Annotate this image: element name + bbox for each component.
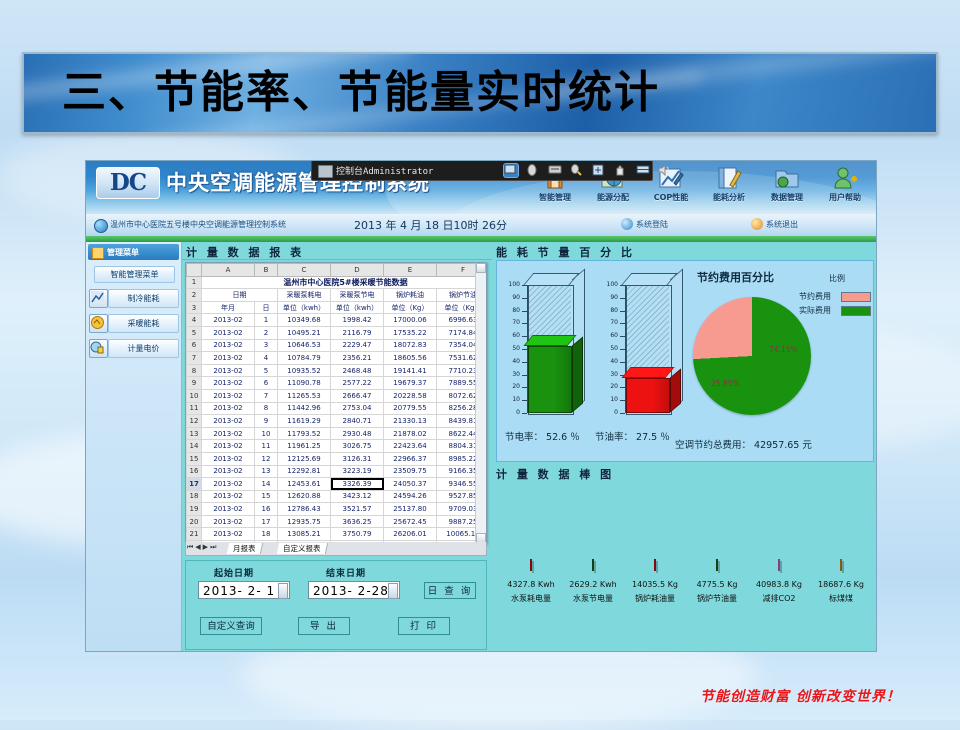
cell-pump-power[interactable]: 12292.81 [278,465,331,478]
cell-boiler-oil[interactable]: 22966.37 [384,452,437,465]
footer-slogan: 节能创造财富 创新改变世界！ [700,686,901,706]
legend-swatch [841,306,871,316]
header-cell[interactable]: 锅炉耗油 [384,289,437,302]
toolbar-label: 能耗分析 [700,192,758,203]
cell-pump-saved[interactable]: 2930.48 [331,427,384,440]
header-cell[interactable]: 日期 [202,289,278,302]
sidebar-header: 管理菜单 [88,244,179,260]
gauge-tick [522,400,527,401]
cell-boiler-oil[interactable]: 25137.80 [384,503,437,516]
cell-pump-power[interactable]: 10495.21 [278,326,331,339]
cell-day[interactable]: 2 [255,326,278,339]
stretch-icon[interactable] [636,164,650,177]
row-number[interactable]: 17 [187,478,202,491]
cell-pump-saved[interactable]: 2666.47 [331,389,384,402]
screen-icon[interactable] [504,164,518,177]
legend-label: 节约费用 [799,292,831,301]
start-date-value: 2013- 2- 1 [203,584,275,598]
cell-boiler-oil[interactable]: 17000.06 [384,314,437,327]
cell-pump-power[interactable]: 12935.75 [278,515,331,528]
cell-pump-saved[interactable]: 3521.57 [331,503,384,516]
cell-boiler-oil[interactable]: 17535.22 [384,326,437,339]
cell-pump-power[interactable]: 12786.43 [278,503,331,516]
cell-pump-saved[interactable]: 3636.25 [331,515,384,528]
row-number[interactable]: 15 [187,452,202,465]
gauge-tick-label: 0 [504,410,520,416]
app-brand-bar: DC 中央空调能源管理控制系统 智能管理 能源分配 COP性能 [86,161,876,214]
cell-year-month[interactable]: 2013-02 [202,503,255,516]
sheet-tab-custom[interactable]: 自定义报表 [277,543,328,554]
header-cell[interactable]: 采暖泵耗电 [278,289,331,302]
cell-year-month[interactable]: 2013-02 [202,528,255,541]
cell-boiler-oil[interactable]: 20779.55 [384,402,437,415]
cell-boiler-oil[interactable]: 23509.75 [384,465,437,478]
cell-pump-power[interactable]: 11961.25 [278,440,331,453]
cell-boiler-oil[interactable]: 20228.58 [384,389,437,402]
scroll-up-icon[interactable] [476,263,486,273]
cell-day[interactable]: 5 [255,364,278,377]
console-screen-icon [318,165,333,178]
column-letter[interactable]: D [331,264,384,277]
gauge-tick [522,349,527,350]
table-row: 42013-02110349.681998.4217000.066996.63 [187,314,488,327]
cell-pump-power[interactable]: 11090.78 [278,377,331,390]
cell-year-month[interactable]: 2013-02 [202,339,255,352]
cell-year-month[interactable]: 2013-02 [202,364,255,377]
metric-name: 水泵耗电量 [500,593,562,604]
legend-swatch [841,292,871,302]
gauge-tick-label: 100 [602,282,618,288]
metric-value: 4327.8 Kwh [500,580,562,589]
cell-pump-power[interactable]: 12453.61 [278,478,331,491]
console-title: 控制台Administrator [336,164,433,177]
cell-pump-power[interactable]: 11265.53 [278,389,331,402]
row-number[interactable]: 16 [187,465,202,478]
energy-section-title: 能 耗 节 量 百 分 比 [496,244,635,260]
cell-year-month[interactable]: 2013-02 [202,415,255,428]
cell-day[interactable]: 6 [255,377,278,390]
cell-pump-saved[interactable]: 2577.22 [331,377,384,390]
cell-pump-power[interactable]: 11793.52 [278,427,331,440]
header-cell[interactable]: 单位（kwh） [278,301,331,314]
cell-day[interactable]: 12 [255,452,278,465]
header-cell[interactable]: 采暖泵节电 [331,289,384,302]
gauge-tick [620,336,625,337]
table-row: 132013-021011793.522930.4821878.028622.4… [187,427,488,440]
cell-boiler-oil[interactable]: 21330.13 [384,415,437,428]
gauge-tick [620,362,625,363]
end-date-label: 结束日期 [326,566,366,579]
sidebar-item-smart-menu[interactable]: 智能管理菜单 [94,266,175,283]
table-row: 2日期采暖泵耗电采暖泵节电锅炉耗油锅炉节油 [187,289,488,302]
legend-item-actual-cost: 实际费用 [799,305,831,316]
slide-title-banner: 三、节能率、节能量实时统计 [22,52,938,134]
bar-top-face [621,367,674,378]
table-row: 152013-021212125.693126.3122966.378985.2… [187,452,488,465]
oil-saving-rate-stat: 节油率： 27.5 ％ [595,429,670,443]
cell-day[interactable]: 14 [255,478,278,491]
row-number[interactable]: 3 [187,301,202,314]
legend-label: 实际费用 [799,306,831,315]
gauge-tick-label: 20 [504,384,520,390]
day-query-button[interactable]: 日 查 询 [424,582,476,599]
header-cell[interactable]: 日 [255,301,278,314]
cell-day[interactable]: 8 [255,402,278,415]
row-number[interactable]: 12 [187,415,202,428]
row-number[interactable]: 8 [187,364,202,377]
cell-boiler-oil[interactable]: 21878.02 [384,427,437,440]
metric-pump-power-saved: 2629.2 Kwh 水泵节电量 [562,560,624,604]
cell-boiler-oil[interactable]: 25672.45 [384,515,437,528]
bar-side-face [572,336,583,412]
row-number[interactable]: 14 [187,440,202,453]
folder-globe-icon [774,165,800,191]
cell-day[interactable]: 16 [255,503,278,516]
toolbar-label: 数据管理 [758,192,816,203]
toolbar-item-user-help[interactable]: 用户帮助 [816,165,874,203]
gauge-tick-label: 30 [504,372,520,378]
system-exit-label: 系统退出 [766,220,798,229]
gauge-power-saving-rate: 0102030405060708090100 [509,283,595,423]
metric-chip [530,559,532,571]
sheet-tab-label: 自定义报表 [283,543,321,554]
sheet-title-cell[interactable]: 温州市中心医院5#楼采暖节能数据 [202,276,488,289]
notebook-pen-icon [716,165,742,191]
end-date-input[interactable]: 2013- 2-28 [308,581,400,599]
row-number[interactable]: 5 [187,326,202,339]
cell-pump-saved[interactable]: 2468.48 [331,364,384,377]
cell-pump-saved[interactable]: 3423.12 [331,490,384,503]
bar-front-face [528,346,572,413]
header-cell[interactable]: 年月 [202,301,255,314]
sidebar-item-label: 制冷能耗 [108,289,179,308]
gauge-tick-label: 50 [504,346,520,352]
cell-pump-saved[interactable]: 3326.39 [331,478,384,491]
metric-chip [778,559,780,571]
cell-pump-saved[interactable]: 2356.21 [331,352,384,365]
export-button[interactable]: 导 出 [298,617,350,635]
gauge-tick [522,311,527,312]
sidebar-item-price[interactable]: 计量电价 [89,337,178,359]
gauge-tick-label: 30 [602,372,618,378]
cooling-icon [89,289,108,308]
metric-co2-reduction: 40983.8 Kg 减排CO2 [748,560,810,604]
table-row: 1温州市中心医院5#楼采暖节能数据 [187,276,488,289]
user-add-icon [832,165,858,191]
start-date-input[interactable]: 2013- 2- 1 [198,581,290,599]
cell-pump-power[interactable]: 13085.21 [278,528,331,541]
gauge-tick [522,285,527,286]
report-panel: 计 量 数 据 报 表 A B C D E F 1温州市中心医院5#楼采暖节能数… [182,242,492,651]
gauge-tick-label: 70 [602,320,618,326]
sheet-corner[interactable] [187,264,202,277]
pie-slice-label-actual: 74.15% [769,345,798,354]
system-login-link[interactable]: 系统登陆 [636,219,668,230]
cell-pump-power[interactable]: 12125.69 [278,452,331,465]
row-number[interactable]: 20 [187,515,202,528]
header-cell[interactable]: 单位（Kg） [384,301,437,314]
mouse-icon[interactable] [526,164,540,177]
table-row: 112013-02811442.962753.0420779.558256.28 [187,402,488,415]
sheet-nav-arrows[interactable]: ⏮◀▶⏭ [187,543,218,552]
cell-year-month[interactable]: 2013-02 [202,490,255,503]
logout-icon [751,218,763,230]
gauge-tick [522,387,527,388]
cell-day[interactable]: 1 [255,314,278,327]
right-panel: 能 耗 节 量 百 分 比 0102030405060708090100 [492,242,876,651]
sheet-tab-bar[interactable]: ⏮◀▶⏭ 月报表 自定义报表 [185,542,487,556]
cell-day[interactable]: 3 [255,339,278,352]
metric-name: 标煤煤 [810,593,872,604]
heating-icon [89,314,108,333]
cell-day[interactable]: 9 [255,415,278,428]
cell-pump-power[interactable]: 10646.53 [278,339,331,352]
cell-pump-saved[interactable]: 2840.71 [331,415,384,428]
column-letter[interactable]: E [384,264,437,277]
row-number[interactable]: 21 [187,528,202,541]
metric-value: 14035.5 Kg [624,580,686,589]
column-letter[interactable]: A [202,264,255,277]
cell-pump-saved[interactable]: 2229.47 [331,339,384,352]
cell-boiler-oil[interactable]: 22423.64 [384,440,437,453]
row-number[interactable]: 10 [187,389,202,402]
row-number[interactable]: 11 [187,402,202,415]
cell-pump-saved[interactable]: 2753.04 [331,402,384,415]
cell-year-month[interactable]: 2013-02 [202,377,255,390]
toolbar-label: 用户帮助 [816,192,874,203]
row-number[interactable]: 7 [187,352,202,365]
cell-year-month[interactable]: 2013-02 [202,402,255,415]
pie-slice-label-saved: 25.85% [711,379,740,388]
gauge-tick-label: 90 [504,295,520,301]
gauge-tick [522,362,527,363]
cell-year-month[interactable]: 2013-02 [202,452,255,465]
energy-percentage-chart-area: 0102030405060708090100 01020304050607080… [496,260,874,462]
cell-year-month[interactable]: 2013-02 [202,478,255,491]
metric-pump-power-consumption: 4327.8 Kwh 水泵耗电量 [500,560,562,604]
cell-day[interactable]: 11 [255,440,278,453]
toolbar-label: COP性能 [642,192,700,203]
price-icon [89,339,108,358]
cell-pump-saved[interactable]: 3223.19 [331,465,384,478]
spreadsheet[interactable]: A B C D E F 1温州市中心医院5#楼采暖节能数据2日期采暖泵耗电采暖泵… [185,262,487,544]
gauge-hatch [627,286,669,377]
gauge-tick-label: 90 [602,295,618,301]
cell-year-month[interactable]: 2013-02 [202,427,255,440]
row-number[interactable]: 4 [187,314,202,327]
toolbar-item-data-management[interactable]: 数据管理 [758,165,816,203]
gauge-tick-label: 70 [504,320,520,326]
column-letter[interactable]: C [278,264,331,277]
cell-day[interactable]: 7 [255,389,278,402]
table-row: 72013-02410784.792356.2118605.567531.62 [187,352,488,365]
cell-day[interactable]: 4 [255,352,278,365]
cell-day[interactable]: 18 [255,528,278,541]
start-date-label: 起始日期 [214,566,254,579]
vm-console-toolbar[interactable]: 控制台Administrator [311,161,653,181]
table-row: 82013-02510935.522468.4819141.417710.23 [187,364,488,377]
gauge-tick [620,323,625,324]
cell-year-month[interactable]: 2013-02 [202,352,255,365]
cell-boiler-oil[interactable]: 24594.26 [384,490,437,503]
cell-pump-saved[interactable]: 2116.79 [331,326,384,339]
gauge-tick [522,375,527,376]
metric-chip [654,559,656,571]
gauge-tick-label: 60 [602,333,618,339]
sheet-tab-monthly[interactable]: 月报表 [227,543,263,554]
cell-boiler-oil[interactable]: 19679.37 [384,377,437,390]
cell-year-month[interactable]: 2013-02 [202,314,255,327]
gauge-tick [522,298,527,299]
app-sub-header: 温州市中心医院五号楼中央空调能源管理控制系统 2013 年 4 月 18 日10… [86,214,876,237]
chevron-down-icon[interactable] [388,583,398,599]
cell-day[interactable]: 17 [255,515,278,528]
gauge-tick [522,413,527,414]
gauge-tick-label: 80 [504,308,520,314]
pie-total-label: 空调节约总费用： 42957.65 元 [675,437,812,451]
cell-pump-power[interactable]: 10935.52 [278,364,331,377]
disc-icon[interactable] [548,164,562,177]
metric-value: 2629.2 Kwh [562,580,624,589]
pie-chart [693,297,811,415]
row-number[interactable]: 6 [187,339,202,352]
row-number[interactable]: 18 [187,490,202,503]
gauge-tick-label: 40 [602,359,618,365]
metric-value: 40983.8 Kg [748,580,810,589]
sheet-tab-label: 月报表 [233,543,256,554]
cell-pump-power[interactable]: 11442.96 [278,402,331,415]
cell-pump-power[interactable]: 11619.29 [278,415,331,428]
gauge-tick [620,349,625,350]
speaker-icon[interactable] [658,164,674,177]
toolbar-item-consumption-analysis[interactable]: 能耗分析 [700,165,758,203]
table-row: 202013-021712935.753636.2525672.459887.2… [187,515,488,528]
table-row: 192013-021612786.433521.5725137.809709.0… [187,503,488,516]
table-row: 182013-021512620.883423.1224594.269527.8… [187,490,488,503]
bar-front-face [626,378,670,413]
metric-name: 锅炉耗油量 [624,593,686,604]
legend-item-saved-cost: 节约费用 [799,291,831,302]
cell-day[interactable]: 13 [255,465,278,478]
login-icon [621,218,633,230]
print-button[interactable]: 打 印 [398,617,450,635]
gauge-tick [620,400,625,401]
toolbar-label: 智能管理 [526,192,584,203]
gauge-oil-saving-rate: 0102030405060708090100 [607,283,693,423]
column-letter[interactable]: B [255,264,278,277]
row-number[interactable]: 1 [187,276,202,289]
system-globe-icon [94,219,108,233]
sidebar-item-label: 采暖能耗 [108,314,179,333]
table-row: 52013-02210495.212116.7917535.227174.84 [187,326,488,339]
gauge-tick-label: 10 [602,397,618,403]
cell-day[interactable]: 15 [255,490,278,503]
sidebar-item-heating[interactable]: 采暖能耗 [89,312,178,334]
chevron-down-icon[interactable] [278,583,288,599]
gauge-tick-label: 50 [602,346,618,352]
cell-year-month[interactable]: 2013-02 [202,389,255,402]
metric-boiler-oil-saved: 4775.5 Kg 锅炉节油量 [686,560,748,604]
cell-pump-power[interactable]: 10784.79 [278,352,331,365]
cell-year-month[interactable]: 2013-02 [202,440,255,453]
fullscreen-icon[interactable] [592,164,606,177]
cell-pump-power[interactable]: 10349.68 [278,314,331,327]
system-datetime: 2013 年 4 月 18 日10时 26分 [354,217,507,233]
table-row: 162013-021312292.813223.1923509.759166.3… [187,465,488,478]
cell-year-month[interactable]: 2013-02 [202,515,255,528]
row-number[interactable]: 13 [187,427,202,440]
report-table[interactable]: A B C D E F 1温州市中心医院5#楼采暖节能数据2日期采暖泵耗电采暖泵… [186,263,487,544]
cell-boiler-oil[interactable]: 18072.83 [384,339,437,352]
metric-value: 4775.5 Kg [686,580,748,589]
metric-name: 水泵节电量 [562,593,624,604]
gauge-tick [620,311,625,312]
sidebar-item-cooling[interactable]: 制冷能耗 [89,287,178,309]
metric-standard-coal: 18687.6 Kg 标煤煤 [810,560,872,604]
row-number[interactable]: 19 [187,503,202,516]
power-saving-rate-stat: 节电率： 52.6 ％ [505,429,580,443]
table-row: 142013-021111961.253026.7522423.648804.3… [187,440,488,453]
system-login-label: 系统登陆 [636,220,668,229]
toolbar-label: 能源分配 [584,192,642,203]
system-exit-link[interactable]: 系统退出 [766,219,798,230]
vertical-scrollbar[interactable] [475,263,486,543]
query-controls: 起始日期 结束日期 2013- 2- 1 2013- 2-28 日 查 询 自定… [185,560,487,650]
custom-query-button[interactable]: 自定义查询 [200,617,262,635]
table-row: 122013-02911619.292840.7121330.138439.81 [187,415,488,428]
row-number[interactable]: 2 [187,289,202,302]
header-cell[interactable]: 单位（kwh） [331,301,384,314]
cell-boiler-oil[interactable]: 18605.56 [384,352,437,365]
metric-name: 锅炉节油量 [686,593,748,604]
cell-year-month[interactable]: 2013-02 [202,465,255,478]
cell-pump-saved[interactable]: 3026.75 [331,440,384,453]
metric-chip [592,559,594,571]
page-title: 三、节能率、节能量实时统计 [62,60,660,126]
sidebar: 管理菜单 智能管理菜单 制冷能耗 采暖能耗 计量电价 [86,242,182,651]
metric-name: 减排CO2 [748,593,810,604]
menu-icon [92,247,104,259]
gauge-tick-label: 10 [504,397,520,403]
cell-boiler-oil[interactable]: 24050.37 [384,478,437,491]
end-date-value: 2013- 2-28 [313,584,389,598]
cell-pump-saved[interactable]: 3750.79 [331,528,384,541]
column-letter-row: A B C D E F [187,264,488,277]
cell-boiler-oil[interactable]: 26206.01 [384,528,437,541]
gauge-tick-label: 60 [504,333,520,339]
table-row: 62013-02310646.532229.4718072.837354.04 [187,339,488,352]
metric-value: 18687.6 Kg [810,580,872,589]
cursor-icon[interactable] [570,164,584,177]
hand-icon[interactable] [614,164,628,177]
cell-pump-saved[interactable]: 3126.31 [331,452,384,465]
application-window: DC 中央空调能源管理控制系统 智能管理 能源分配 COP性能 [85,160,877,652]
cell-boiler-oil[interactable]: 19141.41 [384,364,437,377]
pie-chart-title: 节约费用百分比 [697,269,774,285]
table-row: 212013-021813085.213750.7926206.0110065.… [187,528,488,541]
table-row: 172013-021412453.613326.3924050.379346.5… [187,478,488,491]
cell-day[interactable]: 10 [255,427,278,440]
table-row: 102013-02711265.532666.4720228.588072.62 [187,389,488,402]
gauge-tick-label: 20 [602,384,618,390]
row-number[interactable]: 9 [187,377,202,390]
cell-pump-saved[interactable]: 1998.42 [331,314,384,327]
report-title: 计 量 数 据 报 表 [186,244,304,260]
gauge-tick-label: 100 [504,282,520,288]
metering-bar-chart-area: 4327.8 Kwh 水泵耗电量 2629.2 Kwh 水泵节电量 14035.… [496,482,872,648]
cell-year-month[interactable]: 2013-02 [202,326,255,339]
cell-pump-power[interactable]: 12620.88 [278,490,331,503]
